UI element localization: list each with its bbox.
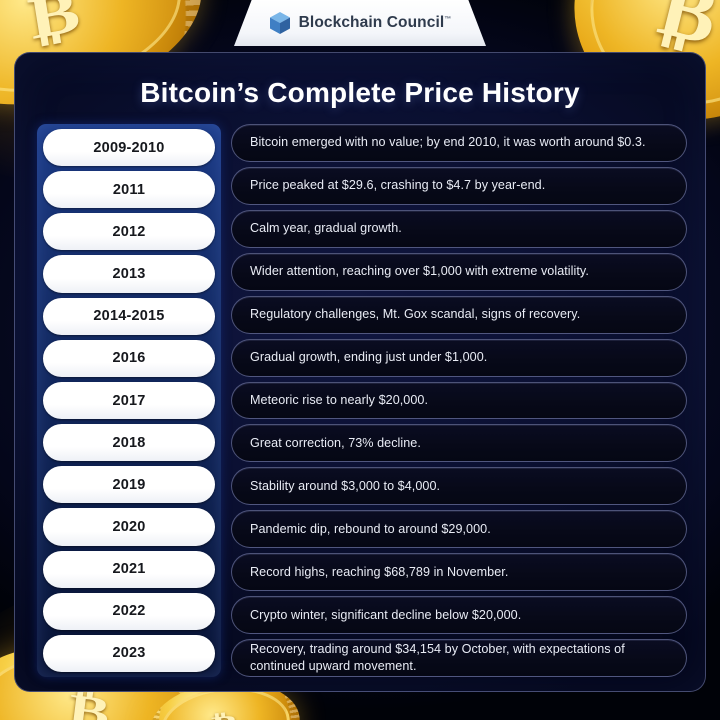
history-card: Bitcoin’s Complete Price History 2009-20… — [14, 52, 706, 692]
year-label: 2013 — [112, 266, 145, 282]
year-label: 2021 — [112, 561, 145, 577]
description-text: Regulatory challenges, Mt. Gox scandal, … — [250, 306, 580, 323]
year-label: 2022 — [112, 603, 145, 619]
description-pill[interactable]: Record highs, reaching $68,789 in Novemb… — [231, 553, 687, 591]
year-pill[interactable]: 2013 — [43, 255, 215, 292]
year-label: 2009-2010 — [93, 140, 164, 156]
description-text: Crypto winter, significant decline below… — [250, 607, 521, 624]
description-pill[interactable]: Meteoric rise to nearly $20,000. — [231, 382, 687, 420]
description-text: Stability around $3,000 to $4,000. — [250, 478, 440, 495]
year-pill[interactable]: 2021 — [43, 551, 215, 588]
description-pill[interactable]: Crypto winter, significant decline below… — [231, 596, 687, 634]
description-text: Gradual growth, ending just under $1,000… — [250, 349, 487, 366]
description-text: Price peaked at $29.6, crashing to $4.7 … — [250, 177, 545, 194]
description-pill[interactable]: Great correction, 73% decline. — [231, 424, 687, 462]
trademark-symbol: ™ — [444, 16, 451, 23]
year-pill[interactable]: 2017 — [43, 382, 215, 419]
year-label: 2016 — [112, 350, 145, 366]
brand-logo-tab: Blockchain Council™ — [234, 0, 486, 46]
page-title: Bitcoin’s Complete Price History — [15, 77, 705, 109]
year-pill[interactable]: 2014-2015 — [43, 298, 215, 335]
description-text: Pandemic dip, rebound to around $29,000. — [250, 521, 491, 538]
description-text: Recovery, trading around $34,154 by Octo… — [250, 641, 670, 675]
description-text: Bitcoin emerged with no value; by end 20… — [250, 134, 646, 151]
year-label: 2019 — [112, 477, 145, 493]
description-text: Great correction, 73% decline. — [250, 435, 421, 452]
year-pill[interactable]: 2020 — [43, 508, 215, 545]
description-pill[interactable]: Gradual growth, ending just under $1,000… — [231, 339, 687, 377]
cube-icon — [269, 11, 291, 35]
description-pill[interactable]: Bitcoin emerged with no value; by end 20… — [231, 124, 687, 162]
year-label: 2014-2015 — [93, 308, 164, 324]
year-label: 2023 — [112, 645, 145, 661]
year-label: 2017 — [112, 393, 145, 409]
description-pill[interactable]: Calm year, gradual growth. — [231, 210, 687, 248]
brand-name-text: Blockchain Council — [299, 14, 445, 31]
year-column: 2009-20102011201220132014-20152016201720… — [37, 124, 221, 677]
price-history-table: 2009-20102011201220132014-20152016201720… — [37, 124, 687, 677]
description-pill[interactable]: Wider attention, reaching over $1,000 wi… — [231, 253, 687, 291]
year-pill[interactable]: 2022 — [43, 593, 215, 630]
description-pill[interactable]: Price peaked at $29.6, crashing to $4.7 … — [231, 167, 687, 205]
infographic-canvas: ₿ ₿ ₿ ₿ Blockchain Council™ Bitcoin’s Co… — [0, 0, 720, 720]
year-pill[interactable]: 2018 — [43, 424, 215, 461]
description-column: Bitcoin emerged with no value; by end 20… — [231, 124, 687, 677]
description-text: Wider attention, reaching over $1,000 wi… — [250, 263, 589, 280]
year-pill[interactable]: 2011 — [43, 171, 215, 208]
description-pill[interactable]: Regulatory challenges, Mt. Gox scandal, … — [231, 296, 687, 334]
year-pill[interactable]: 2012 — [43, 213, 215, 250]
year-label: 2018 — [112, 435, 145, 451]
year-label: 2020 — [112, 519, 145, 535]
description-text: Record highs, reaching $68,789 in Novemb… — [250, 564, 508, 581]
year-pill[interactable]: 2016 — [43, 340, 215, 377]
year-pill[interactable]: 2023 — [43, 635, 215, 672]
year-pill[interactable]: 2019 — [43, 466, 215, 503]
year-pill[interactable]: 2009-2010 — [43, 129, 215, 166]
description-text: Meteoric rise to nearly $20,000. — [250, 392, 428, 409]
description-pill[interactable]: Recovery, trading around $34,154 by Octo… — [231, 639, 687, 677]
year-label: 2011 — [113, 182, 145, 198]
description-pill[interactable]: Pandemic dip, rebound to around $29,000. — [231, 510, 687, 548]
description-text: Calm year, gradual growth. — [250, 220, 402, 237]
brand-name: Blockchain Council™ — [299, 14, 452, 32]
year-label: 2012 — [112, 224, 145, 240]
description-pill[interactable]: Stability around $3,000 to $4,000. — [231, 467, 687, 505]
